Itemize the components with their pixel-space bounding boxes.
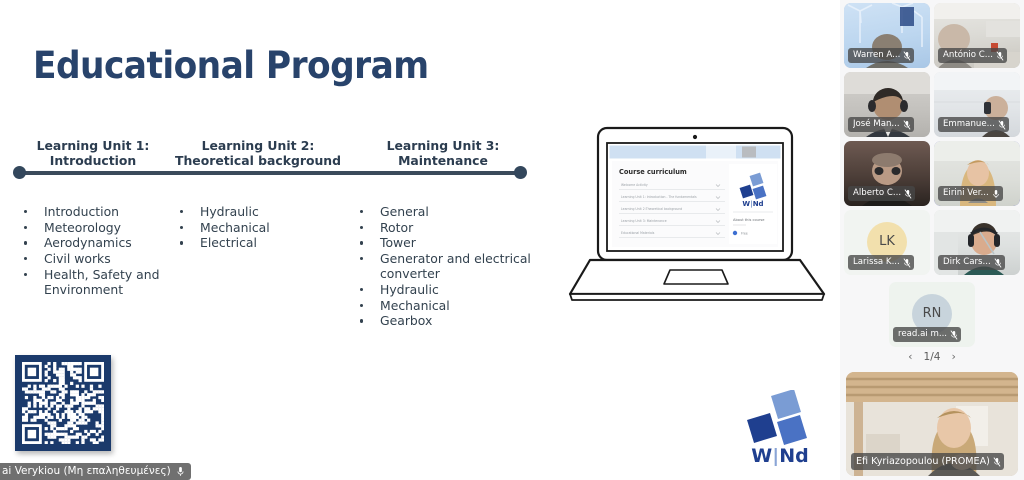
participant-name-chip: Efi Kyriazopoulou (PROMEA) — [851, 453, 1004, 470]
learning-unit-1-list: Introduction Meteorology Aerodynamics Ci… — [18, 204, 168, 297]
microphone-muted-icon — [903, 258, 911, 268]
learning-unit-1: Learning Unit 1: Introduction Introducti… — [18, 138, 168, 298]
microphone-muted-icon — [950, 330, 958, 340]
participant-name-chip: Eirini Ver... — [938, 186, 1003, 201]
learning-unit-2-list: Hydraulic Mechanical Electrical — [168, 204, 348, 251]
participant-name: António C... — [943, 48, 993, 63]
list-item: Electrical — [168, 235, 348, 250]
learning-unit-2: Learning Unit 2: Theoretical background … — [168, 138, 348, 251]
microphone-muted-icon — [996, 51, 1004, 61]
list-item: Meteorology — [18, 220, 168, 235]
svg-text:W|Nd: W|Nd — [751, 445, 808, 466]
list-item: Hydraulic — [348, 282, 538, 297]
list-item: Tower — [348, 235, 538, 250]
svg-text:Learning Unit 2:Theoretical ba: Learning Unit 2:Theoretical background — [621, 207, 682, 211]
participant-name-chip: José Man... — [848, 117, 914, 132]
presentation-slide: Educational Program Learning Unit 1: Int… — [0, 0, 840, 480]
participant-tile-grid: Warren A... — [840, 3, 1024, 275]
learning-unit-1-heading: Learning Unit 1: Introduction — [18, 138, 168, 168]
list-item: Introduction — [18, 204, 168, 219]
participant-name-chip: read.ai m... — [893, 327, 961, 342]
learning-unit-3: Learning Unit 3: Maintenance General Rot… — [348, 138, 538, 329]
list-item: Generator and electrical converter — [348, 251, 538, 281]
participant-name-chip: Dirk Cars... — [938, 255, 1005, 270]
participant-name: Efi Kyriazopoulou (PROMEA) — [856, 453, 990, 470]
list-item: Mechanical — [168, 220, 348, 235]
svg-text:Learning Unit 1: Introduction: Learning Unit 1: Introduction - The fund… — [621, 195, 697, 199]
page-indicator: 1/4 — [924, 351, 941, 363]
microphone-muted-icon — [998, 120, 1006, 130]
participant-tile-readai[interactable]: RN read.ai m... — [889, 282, 975, 347]
participant-name-chip: António C... — [938, 48, 1007, 63]
svg-text:Learning Unit 3: Maintenance: Learning Unit 3: Maintenance — [621, 219, 667, 223]
list-item: Rotor — [348, 220, 538, 235]
participant-name: Emmanue... — [943, 117, 995, 132]
participant-name: Warren A... — [853, 48, 900, 63]
laptop-illustration: Course curriculum Welcome Activity Learn… — [566, 118, 834, 318]
spotlight-tile-efi[interactable]: Efi Kyriazopoulou (PROMEA) — [846, 372, 1018, 476]
solo-tile-wrapper: RN read.ai m... — [840, 282, 1024, 347]
list-item: Hydraulic — [168, 204, 348, 219]
learning-unit-2-heading: Learning Unit 2: Theoretical background — [168, 138, 348, 168]
caption-name-chip: ai Verykiou (Μη επαληθευμένες) — [0, 463, 191, 480]
qr-code[interactable] — [15, 355, 111, 451]
participant-name: read.ai m... — [898, 327, 947, 342]
participant-name-chip: Warren A... — [848, 48, 914, 63]
participant-tile-antonio[interactable]: António C... — [934, 3, 1020, 68]
participant-name-chip: Larissa K... — [848, 255, 914, 270]
list-item: Mechanical — [348, 298, 538, 313]
svg-text:Free: Free — [741, 232, 748, 236]
participant-name: Dirk Cars... — [943, 255, 991, 270]
participant-name: Eirini Ver... — [943, 186, 989, 201]
next-page-button[interactable]: › — [951, 350, 955, 363]
microphone-icon — [176, 466, 185, 477]
caption-text: ai Verykiou (Μη επαληθευμένες) — [2, 463, 171, 480]
participant-tile-alberto[interactable]: Alberto C... — [844, 141, 930, 206]
participants-sidebar: Warren A... — [840, 0, 1024, 480]
microphone-muted-icon — [993, 457, 1001, 467]
participant-tile-jose[interactable]: José Man... — [844, 72, 930, 137]
participant-name-chip: Emmanue... — [938, 117, 1009, 132]
avatar-initials: LK — [879, 234, 895, 249]
learning-unit-3-heading: Learning Unit 3: Maintenance — [348, 138, 538, 168]
microphone-muted-icon — [904, 189, 912, 199]
svg-text:Welcome Activity: Welcome Activity — [621, 183, 648, 187]
microphone-muted-icon — [994, 258, 1002, 268]
learning-unit-3-list: General Rotor Tower Generator and electr… — [348, 204, 538, 329]
list-item: General — [348, 204, 538, 219]
participant-name-chip: Alberto C... — [848, 186, 915, 201]
participant-name: José Man... — [853, 117, 900, 132]
participant-name: Larissa K... — [853, 255, 900, 270]
list-item: Civil works — [18, 251, 168, 266]
participant-tile-warren[interactable]: Warren A... — [844, 3, 930, 68]
pagination: ‹ 1/4 › — [840, 350, 1024, 363]
microphone-muted-icon — [903, 51, 911, 61]
prev-page-button[interactable]: ‹ — [908, 350, 912, 363]
participant-tile-emmanuel[interactable]: Emmanue... — [934, 72, 1020, 137]
list-item: Aerodynamics — [18, 235, 168, 250]
wind-brand-logo: W|Nd — [742, 390, 822, 466]
svg-text:W|Nd: W|Nd — [742, 200, 763, 209]
screenshot-root: Educational Program Learning Unit 1: Int… — [0, 0, 1024, 480]
participant-name: Alberto C... — [853, 186, 901, 201]
participant-tile-eirini[interactable]: Eirini Ver... — [934, 141, 1020, 206]
avatar-initials: RN — [923, 306, 942, 321]
qr-code-canvas — [22, 362, 104, 444]
participant-tile-larissa[interactable]: LK Larissa K... — [844, 210, 930, 275]
microphone-icon — [992, 189, 1000, 199]
list-item: Gearbox — [348, 313, 538, 328]
participant-tile-dirk[interactable]: Dirk Cars... — [934, 210, 1020, 275]
page-title: Educational Program — [33, 44, 429, 87]
svg-text:Course curriculum: Course curriculum — [619, 168, 687, 176]
microphone-muted-icon — [903, 120, 911, 130]
learning-units: Learning Unit 1: Introduction Introducti… — [0, 138, 560, 338]
svg-text:About this course: About this course — [733, 218, 765, 222]
list-item: Health, Safety and Environment — [18, 267, 168, 297]
svg-text:Educational Materials: Educational Materials — [621, 231, 655, 235]
